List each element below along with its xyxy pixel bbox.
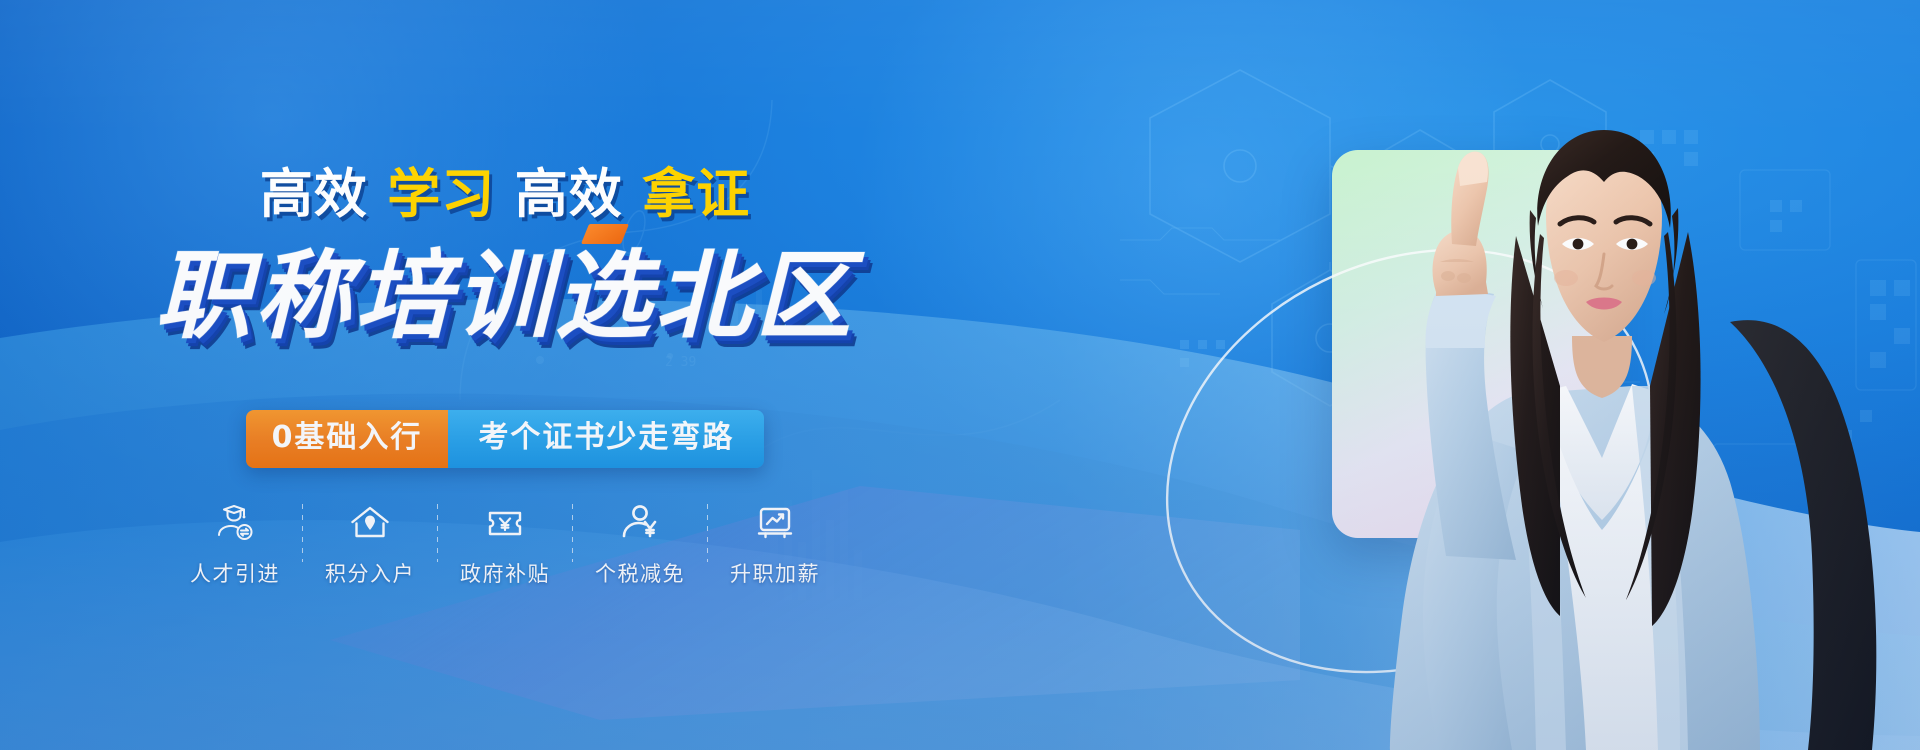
kicker-part-3: 高效	[515, 152, 623, 228]
headline-wrapper: 职称培训选北区	[0, 218, 1010, 357]
kicker-line: 高效 学习 高效 拿证	[0, 152, 1010, 228]
feature-item-talent-introduction[interactable]: 人才引进	[168, 500, 302, 588]
banner-content: 高效 学习 高效 拿证 职称培训选北区 0基础入行 考个证书少走弯路	[0, 0, 1060, 750]
presenter-photo	[1260, 86, 1920, 750]
feature-label: 积分入户	[325, 558, 415, 588]
kicker-part-2: 学习	[387, 152, 495, 228]
kicker-part-4: 拿证	[642, 152, 750, 228]
tagline-badge-row: 0基础入行 考个证书少走弯路	[0, 410, 1010, 468]
page-title: 职称培训选北区	[155, 218, 855, 357]
feature-item-points-residency[interactable]: 积分入户	[303, 500, 437, 588]
kicker-part-1: 高效	[260, 152, 368, 228]
graduate-person-icon	[213, 500, 257, 546]
feature-item-government-subsidy[interactable]: 政府补贴	[438, 500, 572, 588]
feature-list: 人才引进 积分入户	[0, 500, 1010, 588]
feature-label: 政府补贴	[460, 558, 550, 588]
person-yuan-icon	[618, 500, 662, 546]
feature-label: 人才引进	[190, 558, 280, 588]
orange-accent-mark-icon	[581, 224, 629, 244]
house-pin-icon	[348, 500, 392, 546]
feature-label: 个税减免	[595, 558, 685, 588]
badge-subtitle: 考个证书少走弯路	[448, 410, 764, 468]
growth-chart-board-icon	[753, 500, 797, 546]
feature-item-tax-reduction[interactable]: 个税减免	[573, 500, 707, 588]
badge-highlight: 0基础入行	[246, 410, 449, 468]
feature-label: 升职加薪	[730, 558, 820, 588]
coupon-yuan-icon	[483, 500, 527, 546]
hero-figure-group	[1020, 0, 1920, 750]
promo-banner: 2 39	[0, 0, 1920, 750]
feature-item-promotion-raise[interactable]: 升职加薪	[708, 500, 842, 588]
status-badge: 0基础入行 考个证书少走弯路	[246, 410, 765, 468]
